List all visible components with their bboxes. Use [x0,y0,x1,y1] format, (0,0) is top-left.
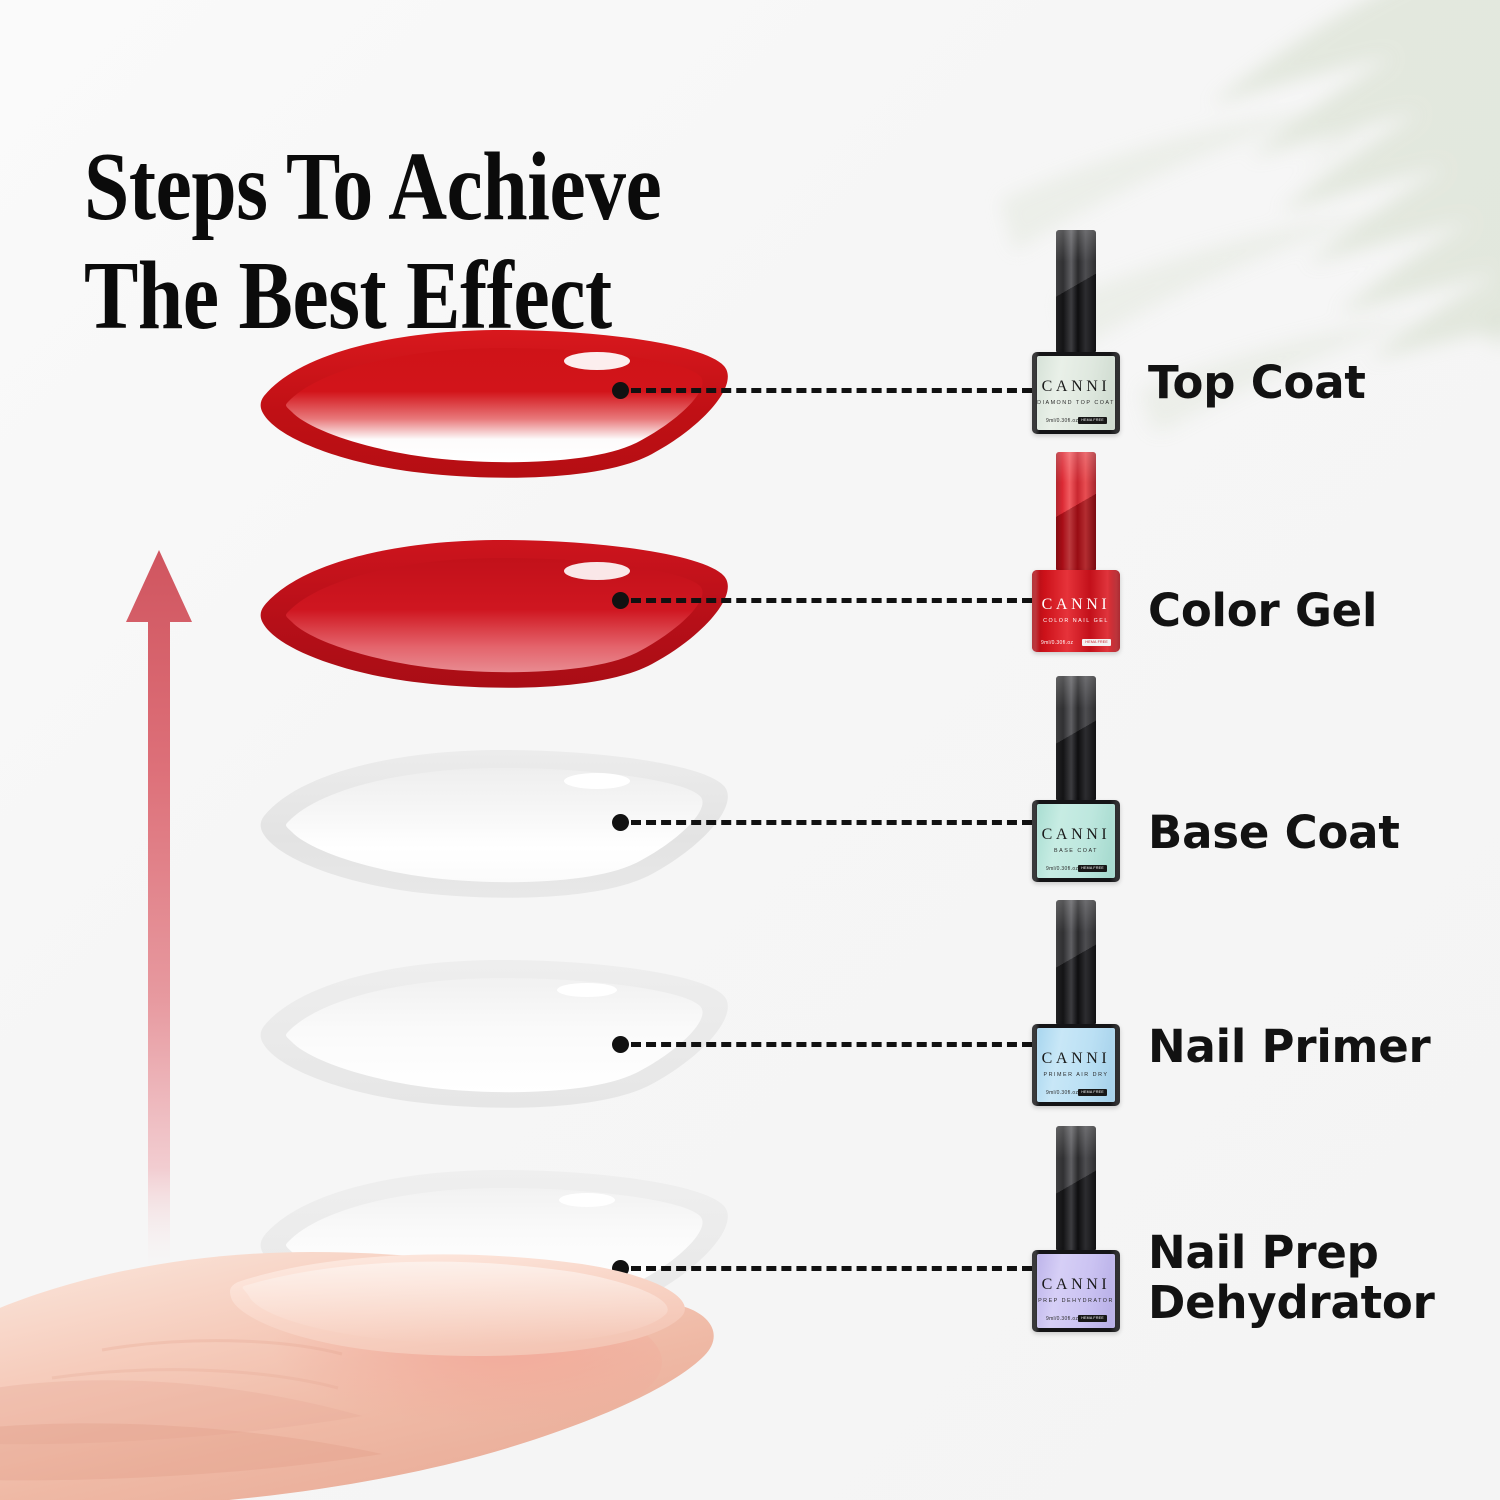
connector-nail-prep-dehydrator [612,1258,1032,1278]
bottle-brand: CANNI [1042,1277,1111,1293]
bottle-body: CANNI BASE COAT 9ml/0.30fl.oz HEMA FREE [1032,800,1120,882]
connector-color-gel [612,590,1032,610]
step-label-nail-primer: Nail Primer [1148,1022,1431,1072]
bottle-brand: CANNI [1042,827,1111,843]
infographic-canvas: Steps To Achieve The Best Effect [0,0,1500,1500]
connector-top-coat [612,380,1032,400]
connector-dot [612,1260,629,1277]
hema-free-badge: HEMA FREE [1082,639,1111,646]
bottle-cap [1056,230,1096,352]
bottle-bottom-row: 9ml/0.30fl.oz HEMA FREE [1041,639,1111,646]
bottle-product: DIAMOND TOP COAT [1037,401,1115,406]
bottle-body: CANNI DIAMOND TOP COAT 9ml/0.30fl.oz HEM… [1032,352,1120,434]
connector-nail-primer [612,1034,1032,1054]
step-label-nail-prep-dehydrator: Nail Prep Dehydrator [1148,1228,1435,1329]
bottle-brand: CANNI [1042,379,1111,395]
bottle-cap [1056,452,1096,570]
bottle-product: PRIMER AIR DRY [1044,1073,1109,1078]
bottle-product: PREP DEHYDRATOR [1038,1299,1114,1304]
bottle-nail-primer[interactable]: CANNI PRIMER AIR DRY 9ml/0.30fl.oz HEMA … [1028,900,1124,1106]
bottle-cap [1056,676,1096,800]
connector-dashed-line [631,1266,1032,1271]
bottle-label: CANNI DIAMOND TOP COAT 9ml/0.30fl.oz HEM… [1037,356,1115,430]
bottle-body: CANNI PRIMER AIR DRY 9ml/0.30fl.oz HEMA … [1032,1024,1120,1106]
bottle-bottom-row: 9ml/0.30fl.oz HEMA FREE [1046,1089,1106,1096]
nail-layer-top-coat [252,322,752,482]
connector-dot [612,382,629,399]
bottle-volume: 9ml/0.30fl.oz [1046,1091,1078,1096]
nail-layer-color-gel [252,532,752,692]
connector-dashed-line [631,1042,1032,1047]
bottle-cap [1056,900,1096,1024]
nail-layer-nail-prep-dehydrator [252,1162,752,1322]
connector-dot [612,1036,629,1053]
bottle-color-gel[interactable]: CANNI COLOR NAIL GEL 9ml/0.30fl.oz HEMA … [1028,452,1124,652]
bottle-volume: 9ml/0.30fl.oz [1046,867,1078,872]
bottle-body: CANNI COLOR NAIL GEL 9ml/0.30fl.oz HEMA … [1032,570,1120,652]
bottle-label: CANNI PREP DEHYDRATOR 9ml/0.30fl.oz HEMA… [1037,1254,1115,1328]
connector-dot [612,592,629,609]
page-title-line-1: Steps To Achieve [84,133,661,240]
bottle-product: BASE COAT [1054,849,1098,854]
bottle-volume: 9ml/0.30fl.oz [1046,419,1078,424]
bottle-brand: CANNI [1042,597,1111,613]
bottle-nail-prep-dehydrator[interactable]: CANNI PREP DEHYDRATOR 9ml/0.30fl.oz HEMA… [1028,1126,1124,1332]
nail-layer-nail-primer [252,952,752,1112]
upward-progress-arrow-icon [118,548,200,1278]
bottle-label: CANNI PRIMER AIR DRY 9ml/0.30fl.oz HEMA … [1037,1028,1115,1102]
bottle-top-coat[interactable]: CANNI DIAMOND TOP COAT 9ml/0.30fl.oz HEM… [1028,230,1124,434]
connector-dashed-line [631,388,1032,393]
step-label-base-coat: Base Coat [1148,808,1400,858]
bottle-brand: CANNI [1042,1051,1111,1067]
connector-dot [612,814,629,831]
page-title: Steps To Achieve The Best Effect [84,133,823,350]
bottle-bottom-row: 9ml/0.30fl.oz HEMA FREE [1046,1315,1106,1322]
bottle-base-coat[interactable]: CANNI BASE COAT 9ml/0.30fl.oz HEMA FREE [1028,676,1124,882]
bottle-bottom-row: 9ml/0.30fl.oz HEMA FREE [1046,417,1106,424]
connector-base-coat [612,812,1032,832]
hema-free-badge: HEMA FREE [1078,1315,1107,1322]
bottle-label: CANNI BASE COAT 9ml/0.30fl.oz HEMA FREE [1037,804,1115,878]
hema-free-badge: HEMA FREE [1078,1089,1107,1096]
step-label-color-gel: Color Gel [1148,586,1377,636]
bottle-body: CANNI PREP DEHYDRATOR 9ml/0.30fl.oz HEMA… [1032,1250,1120,1332]
bottle-product: COLOR NAIL GEL [1043,619,1109,624]
hema-free-badge: HEMA FREE [1078,865,1107,872]
connector-dashed-line [631,598,1032,603]
bottle-volume: 9ml/0.30fl.oz [1041,641,1073,646]
bottle-bottom-row: 9ml/0.30fl.oz HEMA FREE [1046,865,1106,872]
hema-free-badge: HEMA FREE [1078,417,1107,424]
bottle-label: CANNI COLOR NAIL GEL 9ml/0.30fl.oz HEMA … [1032,570,1120,652]
bottle-volume: 9ml/0.30fl.oz [1046,1317,1078,1322]
step-label-top-coat: Top Coat [1148,358,1366,408]
bottle-cap [1056,1126,1096,1250]
connector-dashed-line [631,820,1032,825]
